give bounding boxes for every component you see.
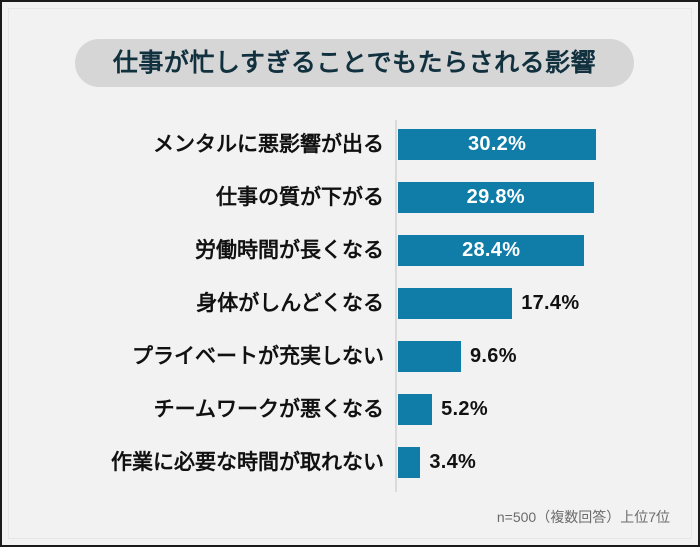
bar-wrapper: 30.2% [398,129,596,160]
bar-row: 作業に必要な時間が取れない3.4% [2,436,700,489]
bar-value-label-outside: 9.6% [470,341,517,372]
bar[interactable] [398,341,461,372]
bar-wrapper [398,447,420,478]
bar[interactable] [398,288,512,319]
bar[interactable] [398,394,432,425]
bar-value-label-outside: 5.2% [441,394,488,425]
bar-wrapper [398,341,461,372]
bar-row: 身体がしんどくなる17.4% [2,277,700,330]
bar-row: 労働時間が長くなる28.4% [2,224,700,277]
bar-value-label-inside: 30.2% [398,129,596,160]
chart-title-banner: 仕事が忙しすぎることでもたらされる影響 [75,39,634,87]
bar-value-label-inside: 28.4% [398,235,584,266]
bar-category-label: 仕事の質が下がる [22,171,384,224]
bar-chart: メンタルに悪影響が出る30.2%仕事の質が下がる29.8%労働時間が長くなる28… [2,114,700,499]
bar-wrapper: 28.4% [398,235,584,266]
page-title: 仕事が忙しすぎることでもたらされる影響 [113,51,596,76]
bar-category-label: 身体がしんどくなる [22,277,384,330]
bar-wrapper: 29.8% [398,182,594,213]
bar-category-label: チームワークが悪くなる [22,383,384,436]
bar-value-label-inside: 29.8% [398,182,594,213]
bar-row: チームワークが悪くなる5.2% [2,383,700,436]
bar-row: メンタルに悪影響が出る30.2% [2,118,700,171]
sample-size-note: n=500（複数回答）上位7位 [497,507,670,527]
bar-row: 仕事の質が下がる29.8% [2,171,700,224]
bar[interactable] [398,447,420,478]
bar-value-label-outside: 17.4% [521,288,579,319]
chart-figure: 仕事が忙しすぎることでもたらされる影響 メンタルに悪影響が出る30.2%仕事の質… [0,0,700,547]
bar-category-label: 作業に必要な時間が取れない [22,436,384,489]
bar-wrapper [398,394,432,425]
bar-row: プライベートが充実しない9.6% [2,330,700,383]
bar-category-label: 労働時間が長くなる [22,224,384,277]
bar-value-label-outside: 3.4% [429,447,476,478]
bar-wrapper [398,288,512,319]
bar-category-label: プライベートが充実しない [22,330,384,383]
bar-category-label: メンタルに悪影響が出る [22,118,384,171]
